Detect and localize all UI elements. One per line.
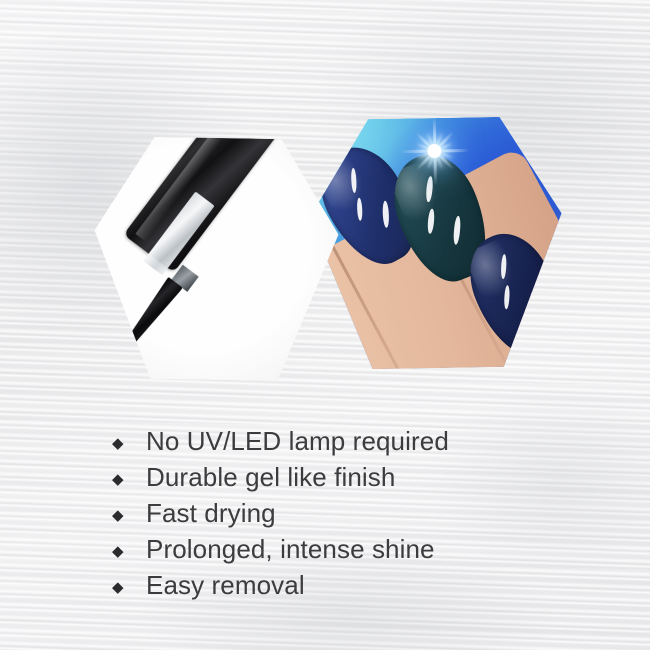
sparkle-core (427, 143, 441, 157)
feature-label: Fast drying (146, 500, 276, 526)
nail-glint (382, 200, 390, 227)
nail-glint (504, 285, 511, 309)
feature-label: Prolonged, intense shine (146, 536, 435, 562)
feature-label: No UV/LED lamp required (146, 428, 449, 454)
list-item: ◆ Prolonged, intense shine (104, 536, 574, 572)
diamond-bullet-icon: ◆ (104, 472, 146, 487)
list-item: ◆ Easy removal (104, 572, 574, 608)
diamond-bullet-icon: ◆ (104, 580, 146, 595)
nail-glint (453, 215, 462, 244)
list-item: ◆ No UV/LED lamp required (104, 428, 574, 464)
diamond-bullet-icon: ◆ (104, 436, 146, 451)
feature-list: ◆ No UV/LED lamp required ◆ Durable gel … (104, 428, 574, 608)
list-item: ◆ Durable gel like finish (104, 464, 574, 500)
diamond-bullet-icon: ◆ (104, 544, 146, 559)
feature-label: Easy removal (146, 572, 305, 598)
product-feature-graphic: ◆ No UV/LED lamp required ◆ Durable gel … (0, 0, 650, 650)
diamond-bullet-icon: ◆ (104, 508, 146, 523)
feature-label: Durable gel like finish (146, 464, 395, 490)
list-item: ◆ Fast drying (104, 500, 574, 536)
